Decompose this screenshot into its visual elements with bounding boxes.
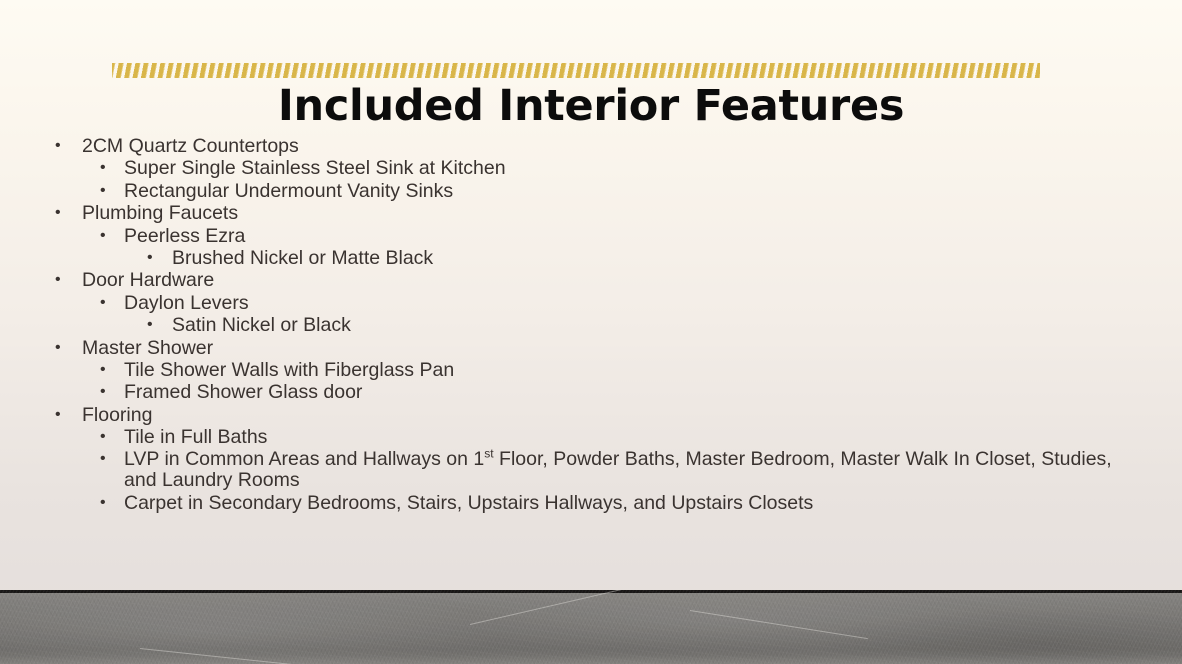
list-item-label: 2CM Quartz Countertops <box>82 136 1122 157</box>
list-item-label: Tile Shower Walls with Fiberglass Pan <box>124 360 1112 381</box>
list-item: •LVP in Common Areas and Hallways on 1st… <box>124 449 1182 492</box>
gold-dashed-rule-pattern <box>112 63 1040 78</box>
bullet-marker-icon: • <box>55 270 61 291</box>
page-title: Included Interior Features <box>0 82 1182 131</box>
bullet-marker-icon: • <box>100 360 106 381</box>
bullet-marker-icon: • <box>100 493 106 514</box>
bullet-marker-icon: • <box>147 248 153 269</box>
list-item: •Peerless Ezra <box>124 226 1182 248</box>
list-item: •2CM Quartz Countertops <box>82 136 1182 158</box>
list-item-label: Tile in Full Baths <box>124 427 1112 448</box>
list-item-label: Master Shower <box>82 338 1122 359</box>
list-item: •Tile in Full Baths <box>124 427 1182 449</box>
gold-dashed-rule <box>112 63 1040 78</box>
list-item: •Rectangular Undermount Vanity Sinks <box>124 181 1182 203</box>
list-item-label: LVP in Common Areas and Hallways on 1st … <box>124 449 1112 491</box>
list-item-label: Super Single Stainless Steel Sink at Kit… <box>124 158 1112 179</box>
bullet-marker-icon: • <box>100 226 106 247</box>
list-item: •Brushed Nickel or Matte Black <box>172 248 1182 270</box>
bullet-marker-icon: • <box>100 293 106 314</box>
list-item: •Satin Nickel or Black <box>172 315 1182 337</box>
list-item: •Framed Shower Glass door <box>124 382 1182 404</box>
list-item: •Super Single Stainless Steel Sink at Ki… <box>124 158 1182 180</box>
bullet-marker-icon: • <box>100 382 106 403</box>
list-item-label: Plumbing Faucets <box>82 203 1122 224</box>
bullet-marker-icon: • <box>100 158 106 179</box>
list-item: •Door Hardware <box>82 270 1182 292</box>
list-item-label: Flooring <box>82 405 1122 426</box>
bullet-marker-icon: • <box>100 427 106 448</box>
bullet-marker-icon: • <box>55 136 61 157</box>
bullet-marker-icon: • <box>100 449 106 470</box>
list-item-label: Carpet in Secondary Bedrooms, Stairs, Up… <box>124 493 1112 514</box>
list-item: •Daylon Levers <box>124 293 1182 315</box>
bullet-marker-icon: • <box>147 315 153 336</box>
grey-stone-texture-band <box>0 590 1182 664</box>
list-item-label: Peerless Ezra <box>124 226 1112 247</box>
list-item-label: Brushed Nickel or Matte Black <box>172 248 1112 269</box>
bullet-marker-icon: • <box>100 181 106 202</box>
list-item: •Master Shower <box>82 338 1182 360</box>
list-item: •Plumbing Faucets <box>82 203 1182 225</box>
list-item: •Tile Shower Walls with Fiberglass Pan <box>124 360 1182 382</box>
bullet-marker-icon: • <box>55 405 61 426</box>
feature-bullet-list: •2CM Quartz Countertops•Super Single Sta… <box>0 136 1182 515</box>
list-item-label: Framed Shower Glass door <box>124 382 1112 403</box>
list-item-label: Rectangular Undermount Vanity Sinks <box>124 181 1112 202</box>
list-item: •Carpet in Secondary Bedrooms, Stairs, U… <box>124 493 1182 515</box>
bullet-marker-icon: • <box>55 338 61 359</box>
list-item-label: Daylon Levers <box>124 293 1112 314</box>
list-item-label: Door Hardware <box>82 270 1122 291</box>
list-item-label: Satin Nickel or Black <box>172 315 1112 336</box>
slide-canvas: Included Interior Features •2CM Quartz C… <box>0 0 1182 664</box>
bullet-marker-icon: • <box>55 203 61 224</box>
list-item: •Flooring <box>82 405 1182 427</box>
